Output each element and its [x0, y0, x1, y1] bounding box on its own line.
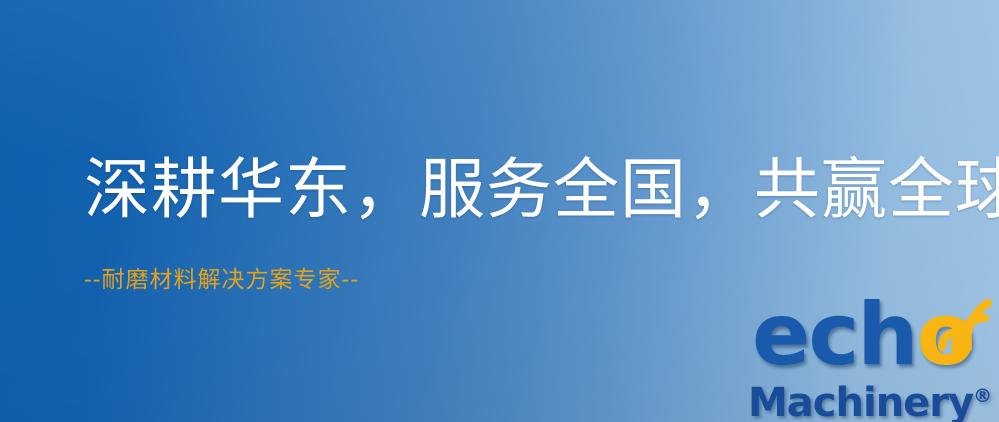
- promo-banner: 深耕华东，服务全国，共赢全球 --耐磨材料解决方案专家-- echo Machi…: [0, 0, 999, 422]
- logo-wordmark-prefix: ech: [752, 285, 917, 385]
- banner-subtitle: --耐磨材料解决方案专家--: [84, 265, 359, 295]
- echo-machinery-logo[interactable]: echo Machinery®: [742, 292, 999, 420]
- logo-subtext-label: Machinery: [748, 380, 973, 422]
- banner-headline: 深耕华东，服务全国，共赢全球: [84, 152, 999, 228]
- signal-waves-icon: [928, 290, 998, 354]
- logo-subtext: Machinery®: [748, 374, 992, 422]
- registered-trademark-icon: ®: [973, 385, 992, 407]
